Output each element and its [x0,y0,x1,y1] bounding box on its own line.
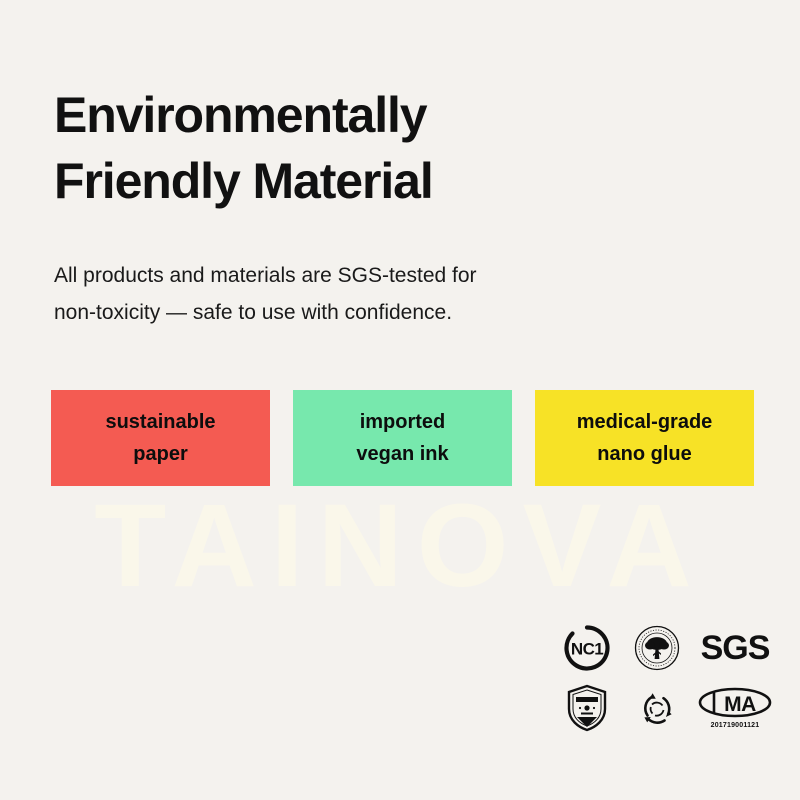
brand-watermark: TAINOVA [0,487,800,605]
nc1-certification-icon: NC1 [556,620,618,676]
sgs-label: SGS [701,631,770,665]
page-description: All products and materials are SGS-teste… [54,257,654,332]
cma-certification-icon: MA 201719001121 [696,680,774,736]
certification-row-top: NC1 [556,618,774,678]
material-tag-line-1: imported [360,406,446,438]
certification-badges: NC1 [556,618,774,738]
material-tag-line-2: paper [133,438,187,470]
material-tag-line-2: nano glue [597,438,691,470]
material-tag-medical-grade-nano-glue[interactable]: medical-grade nano glue [535,390,754,486]
shield-certification-icon [556,680,618,736]
material-tag-list: sustainable paper imported vegan ink med… [51,390,754,486]
page-title-line-2: Friendly Material [54,148,694,214]
page-description-line-2: non-toxicity — safe to use with confiden… [54,294,654,331]
material-tag-line-2: vegan ink [356,438,448,470]
certification-row-bottom: MA 201719001121 [556,678,774,738]
poster-canvas: TAINOVA Environmentally Friendly Materia… [0,0,800,800]
cma-certificate-number: 201719001121 [711,722,760,729]
material-tag-sustainable-paper[interactable]: sustainable paper [51,390,270,486]
material-tag-line-1: sustainable [105,406,215,438]
cma-label: MA [724,693,756,716]
material-tag-imported-vegan-ink[interactable]: imported vegan ink [293,390,512,486]
recycle-icon [626,680,688,736]
page-title: Environmentally Friendly Material [54,82,694,214]
svg-text:NC1: NC1 [571,640,603,659]
page-title-line-1: Environmentally [54,82,694,148]
sgs-certification-icon: SGS [696,620,774,676]
material-tag-line-1: medical-grade [577,406,713,438]
page-description-line-1: All products and materials are SGS-teste… [54,257,654,294]
forest-seal-icon [626,620,688,676]
